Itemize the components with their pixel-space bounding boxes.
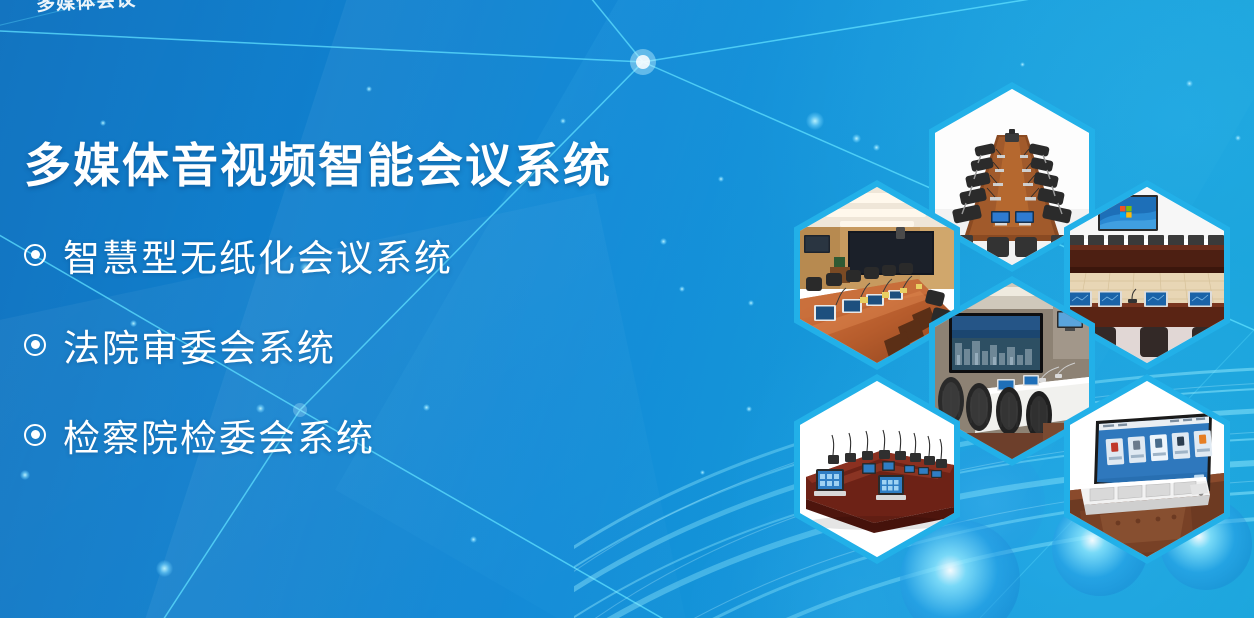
photo-curved-desk-mics [800, 381, 954, 557]
feature-label: 检察院检委会系统 [63, 408, 375, 462]
feature-list-item: 法院审委会系统 [24, 318, 724, 372]
bokeh-dot [100, 120, 106, 126]
feature-list-item: 智慧型无纸化会议系统 [24, 228, 724, 282]
banner-stage: 多媒体会议 多媒体音视频智能会议系统 智慧型无纸化会议系统 法院审委会系统 检察… [0, 0, 1254, 618]
bokeh-dot [20, 470, 30, 480]
hexagon-photo-cluster [770, 78, 1254, 508]
bokeh-dot [700, 470, 705, 475]
ring-dot-bullet-icon [24, 424, 46, 446]
bokeh-dot [366, 86, 372, 92]
bokeh-dot [1020, 62, 1025, 67]
hex-photo-frame [800, 381, 954, 557]
ring-dot-bullet-icon [24, 334, 46, 356]
bokeh-dot [746, 406, 752, 412]
feature-label: 智慧型无纸化会议系统 [63, 228, 453, 282]
hex-photo-frame [1070, 381, 1224, 557]
bokeh-dot [560, 118, 566, 124]
bokeh-dot [470, 536, 477, 543]
bokeh-dot [156, 560, 173, 577]
photo-popup-monitor-desk [1070, 381, 1224, 557]
bokeh-dot [748, 300, 754, 306]
feature-list-item: 检察院检委会系统 [24, 408, 724, 462]
headline-block: 多媒体音视频智能会议系统 智慧型无纸化会议系统 法院审委会系统 检察院检委会系统 [24, 140, 724, 462]
ring-dot-bullet-icon [24, 244, 46, 266]
top-clipped-caption: 多媒体会议 [35, 0, 136, 17]
feature-label: 法院审委会系统 [63, 318, 336, 372]
page-title: 多媒体音视频智能会议系统 [24, 140, 724, 192]
